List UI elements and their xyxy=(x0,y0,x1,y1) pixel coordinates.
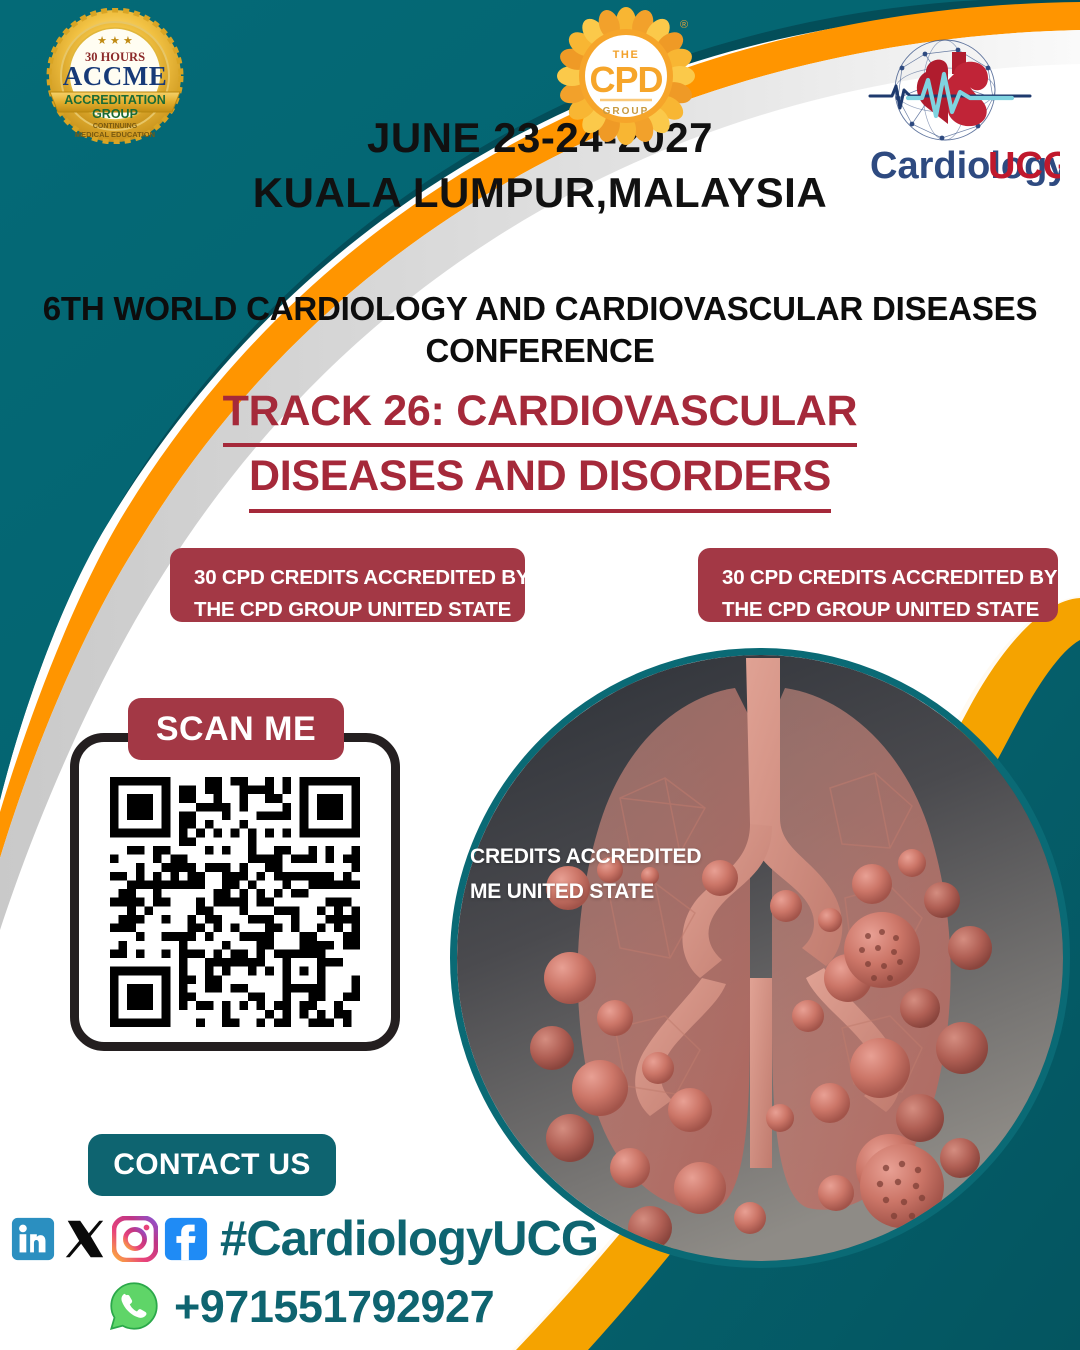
contact-us-button[interactable]: CONTACT US xyxy=(88,1134,336,1196)
accme-subtitle-line2: GROUP xyxy=(92,107,138,121)
phone-row: +971551792927 xyxy=(108,1278,494,1334)
credit-banner-left-line1: 30 CPD CREDITS ACCREDITED BY xyxy=(194,562,507,594)
credit-banner-left: 30 CPD CREDITS ACCREDITED BY THE CPD GRO… xyxy=(170,548,525,622)
lungs-illustration xyxy=(450,648,1070,1268)
linkedin-icon[interactable] xyxy=(10,1216,56,1262)
credit-banner-left-line2: THE CPD GROUP UNITED STATE xyxy=(194,594,507,626)
x-twitter-icon[interactable] xyxy=(61,1216,107,1262)
cpd-registered-mark: ® xyxy=(680,19,688,31)
poster-root: Cardiology UCG JUNE 23-24-2027 KUALA LUM… xyxy=(0,0,1080,1350)
logo-svg: Cardiology UCG xyxy=(830,28,1060,198)
credit-banner-right: 30 CPD CREDITS ACCREDITED BY THE CPD GRO… xyxy=(698,548,1058,622)
porous-alveolus-lower xyxy=(860,1144,944,1228)
cpd-group-badge: THE CPD GROUP ® xyxy=(556,6,700,146)
track-title: TRACK 26: CARDIOVASCULAR DISEASES AND DI… xyxy=(40,382,1040,513)
phone-number: +971551792927 xyxy=(174,1284,494,1329)
porous-alveolus-upper xyxy=(844,912,920,988)
track-title-line2: DISEASES AND DISORDERS xyxy=(249,447,831,512)
accme-badge-svg: ★ ★ ★ 30 HOURS ACCME ACCREDITATION GROUP… xyxy=(38,8,192,144)
credit-banner-right-line1: 30 CPD CREDITS ACCREDITED BY xyxy=(722,562,1040,594)
heart-icon xyxy=(917,52,988,126)
accme-stars: ★ ★ ★ xyxy=(97,35,133,47)
overlay-credit-text: CREDITS ACCREDITED ME UNITED STATE xyxy=(470,840,770,909)
instagram-icon[interactable] xyxy=(112,1216,158,1262)
overlay-credit-line2: ME UNITED STATE xyxy=(470,875,770,910)
accme-footer-line2: MEDICAL EDUCATION xyxy=(75,130,155,139)
accme-subtitle-line1: ACCREDITATION xyxy=(64,93,166,107)
cpd-badge-svg: THE CPD GROUP ® xyxy=(556,6,700,146)
cardiologyucg-logo[interactable]: Cardiology UCG xyxy=(830,28,1060,198)
social-links-row: #CardiologyUCG xyxy=(10,1212,598,1266)
hashtag-text: #CardiologyUCG xyxy=(220,1215,598,1264)
track-title-line1: TRACK 26: CARDIOVASCULAR xyxy=(223,382,858,447)
accme-footer-line1: CONTINUING xyxy=(93,123,138,130)
scan-me-label: SCAN ME xyxy=(128,698,344,760)
cpd-acronym: CPD xyxy=(589,59,662,100)
qr-code-block[interactable]: SCAN ME xyxy=(70,733,400,1051)
accme-title: ACCME xyxy=(63,61,168,91)
logo-text-ucg: UCG xyxy=(988,145,1060,187)
facebook-icon[interactable] xyxy=(163,1216,209,1262)
overlay-credit-line1: CREDITS ACCREDITED xyxy=(470,840,770,875)
conference-title: 6TH WORLD CARDIOLOGY AND CARDIOVASCULAR … xyxy=(22,288,1058,372)
qr-code-image[interactable] xyxy=(110,777,360,1027)
cpd-group-label: GROUP xyxy=(603,106,650,117)
accme-accreditation-badge: ★ ★ ★ 30 HOURS ACCME ACCREDITATION GROUP… xyxy=(38,8,192,144)
whatsapp-icon[interactable] xyxy=(108,1280,160,1332)
lungs-illustration-svg xyxy=(450,648,1070,1268)
credit-banner-right-line2: THE CPD GROUP UNITED STATE xyxy=(722,594,1040,626)
